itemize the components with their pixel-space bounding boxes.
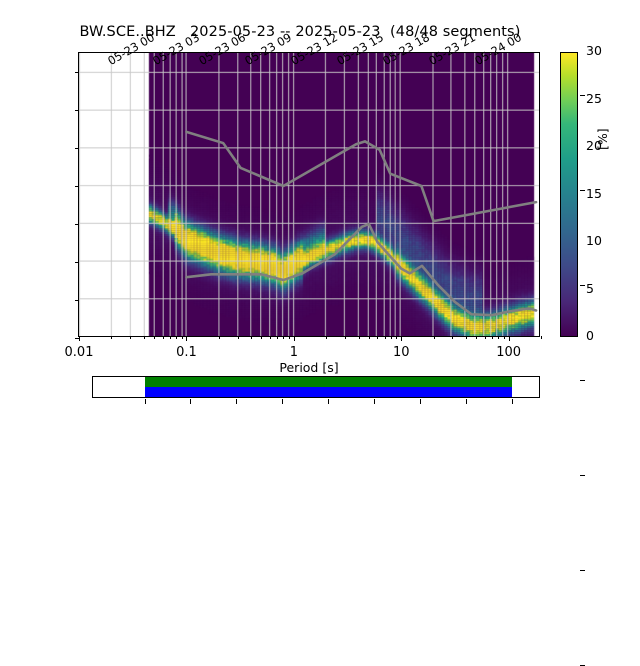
x-minor-tick-mark (359, 336, 360, 339)
ppsd-plot-area (79, 53, 539, 336)
colorbar-tick-label: 25 (586, 91, 626, 106)
colorbar-tick-label: 15 (586, 186, 626, 201)
x-tick-label: 1 (264, 345, 324, 360)
x-minor-tick-mark (345, 336, 346, 339)
colorbar-tick-mark (580, 570, 585, 571)
x-tick-label: 0.01 (49, 345, 109, 360)
x-minor-tick-mark (251, 336, 252, 339)
timeline-tick-mark (236, 399, 237, 404)
colorbar-tick-mark (580, 190, 585, 191)
x-minor-tick-mark (144, 336, 145, 339)
y-tick-mark (75, 72, 80, 73)
x-tick-mark (186, 336, 187, 341)
colorbar-tick-label: 10 (586, 233, 626, 248)
x-minor-tick-mark (289, 336, 290, 339)
timeline-tick-mark (374, 399, 375, 404)
x-minor-tick-mark (326, 336, 327, 339)
x-minor-tick-mark (238, 336, 239, 339)
noise-model-nhnm-line (186, 132, 536, 221)
y-tick-mark (75, 110, 80, 111)
x-minor-tick-mark (176, 336, 177, 339)
x-minor-tick-mark (277, 336, 278, 339)
noise-model-overlay (79, 53, 539, 336)
timeline-tick-mark (328, 399, 329, 404)
colorbar-tick-mark (580, 285, 585, 286)
colorbar-tick-label: 20 (586, 138, 626, 153)
x-minor-tick-mark (466, 336, 467, 339)
colorbar-tick-mark (580, 475, 585, 476)
x-minor-tick-mark (391, 336, 392, 339)
colorbar (560, 52, 578, 337)
x-minor-tick-mark (170, 336, 171, 339)
coverage-bar-blue (145, 387, 512, 397)
x-tick-mark (294, 336, 295, 341)
x-minor-tick-mark (270, 336, 271, 339)
x-minor-tick-mark (396, 336, 397, 339)
timeline-tick-mark (420, 399, 421, 404)
timeline-tick-mark (190, 399, 191, 404)
x-minor-tick-mark (261, 336, 262, 339)
ppsd-figure: BW.SCE..BHZ 2025-05-23 -- 2025-05-23 (48… (0, 0, 640, 480)
ppsd-axes: −60−80−100−120−140−160−180−2000.010.1110… (78, 52, 540, 337)
x-minor-tick-mark (369, 336, 370, 339)
timeline-tick-mark (466, 399, 467, 404)
x-tick-mark (79, 336, 80, 341)
x-tick-mark (509, 336, 510, 341)
x-minor-tick-mark (182, 336, 183, 339)
x-minor-tick-mark (498, 336, 499, 339)
x-minor-tick-mark (476, 336, 477, 339)
x-minor-tick-mark (154, 336, 155, 339)
x-minor-tick-mark (541, 336, 542, 339)
x-minor-tick-mark (504, 336, 505, 339)
timeline-tick-mark (145, 399, 146, 404)
x-axis-label: Period [s] (78, 360, 540, 375)
x-tick-label: 10 (371, 345, 431, 360)
time-coverage-strip (92, 376, 540, 398)
colorbar-tick-mark (580, 380, 585, 381)
timeline-tick-mark (512, 399, 513, 404)
y-tick-mark (75, 224, 80, 225)
y-tick-mark (75, 148, 80, 149)
x-minor-tick-mark (111, 336, 112, 339)
x-minor-tick-mark (385, 336, 386, 339)
x-minor-tick-mark (163, 336, 164, 339)
y-tick-mark (75, 186, 80, 187)
colorbar-tick-mark (580, 95, 585, 96)
y-tick-mark (75, 300, 80, 301)
x-tick-mark (401, 336, 402, 341)
x-tick-label: 100 (479, 345, 539, 360)
noise-model-nlnm-line (186, 224, 536, 315)
colorbar-tick-label: 30 (586, 43, 626, 58)
x-minor-tick-mark (377, 336, 378, 339)
y-tick-mark (75, 262, 80, 263)
x-minor-tick-mark (130, 336, 131, 339)
colorbar-tick-label: 5 (586, 281, 626, 296)
x-minor-tick-mark (485, 336, 486, 339)
x-minor-tick-mark (452, 336, 453, 339)
x-minor-tick-mark (219, 336, 220, 339)
x-minor-tick-mark (492, 336, 493, 339)
x-minor-tick-mark (283, 336, 284, 339)
timeline-tick-mark (282, 399, 283, 404)
coverage-bar-green (145, 377, 512, 387)
x-tick-label: 0.1 (156, 345, 216, 360)
colorbar-tick-label: 0 (586, 328, 626, 343)
x-minor-tick-mark (434, 336, 435, 339)
